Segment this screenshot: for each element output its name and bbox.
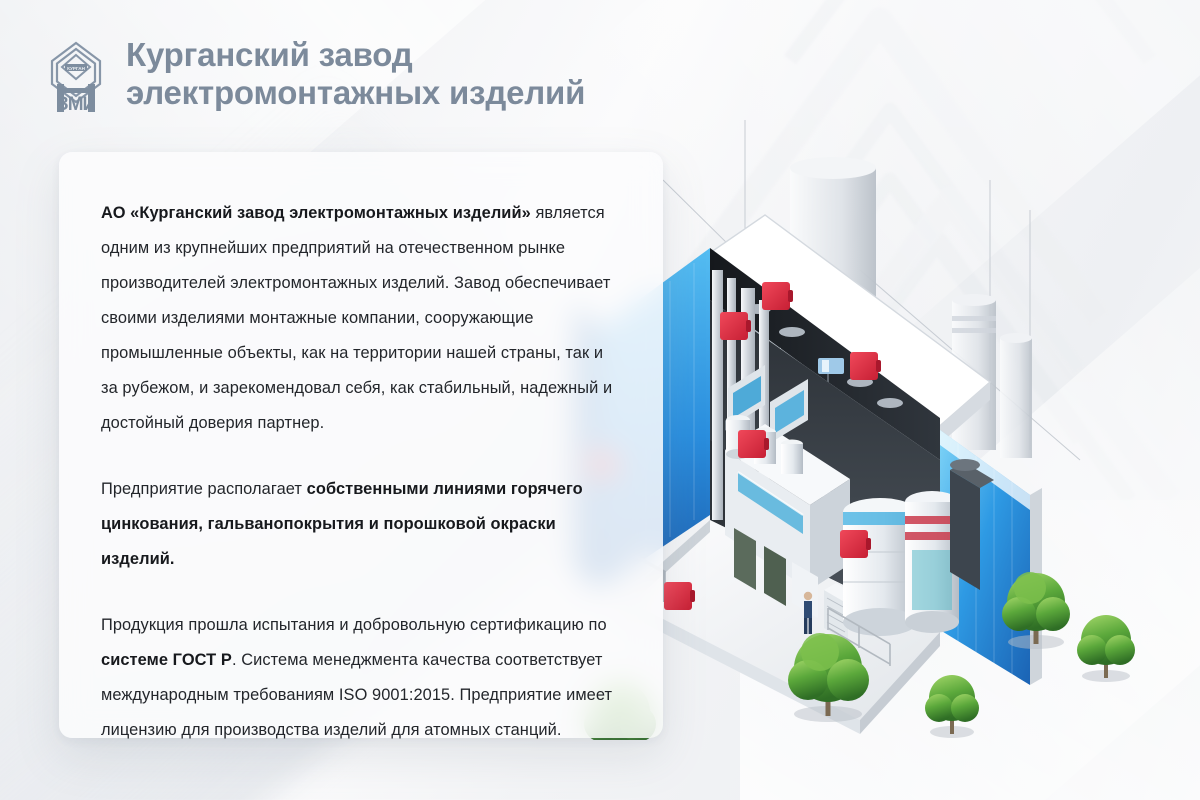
paragraph-production-lines: Предприятие располагает собственными лин… [101, 472, 621, 577]
text-run: Продукция прошла испытания и добровольну… [101, 616, 607, 634]
zmi-logo-icon: КУРГАН ЗМИ [48, 40, 104, 116]
paragraph-company-intro: АО «Курганский завод электромонтажных из… [101, 196, 621, 441]
info-card-body: АО «Курганский завод электромонтажных из… [59, 152, 663, 788]
text-run: Предприятие располагает [101, 480, 307, 498]
logo-letters: ЗМИ [57, 94, 96, 115]
poster-canvas: КУРГАН ЗМИ Курганский завод электромонта… [0, 0, 1200, 800]
brand-header: КУРГАН ЗМИ Курганский завод электромонта… [48, 36, 585, 116]
text-run-bold: системе ГОСТ Р [101, 651, 232, 669]
paragraph-certification: Продукция прошла испытания и добровольну… [101, 608, 621, 748]
page-title: Курганский завод электромонтажных издели… [126, 36, 585, 113]
text-run: является одним из крупнейших предприятий… [101, 204, 612, 432]
text-run-bold: АО «Курганский завод электромонтажных из… [101, 204, 535, 222]
logo-inner-text: КУРГАН [67, 66, 85, 71]
info-card: АО «Курганский завод электромонтажных из… [59, 152, 663, 738]
